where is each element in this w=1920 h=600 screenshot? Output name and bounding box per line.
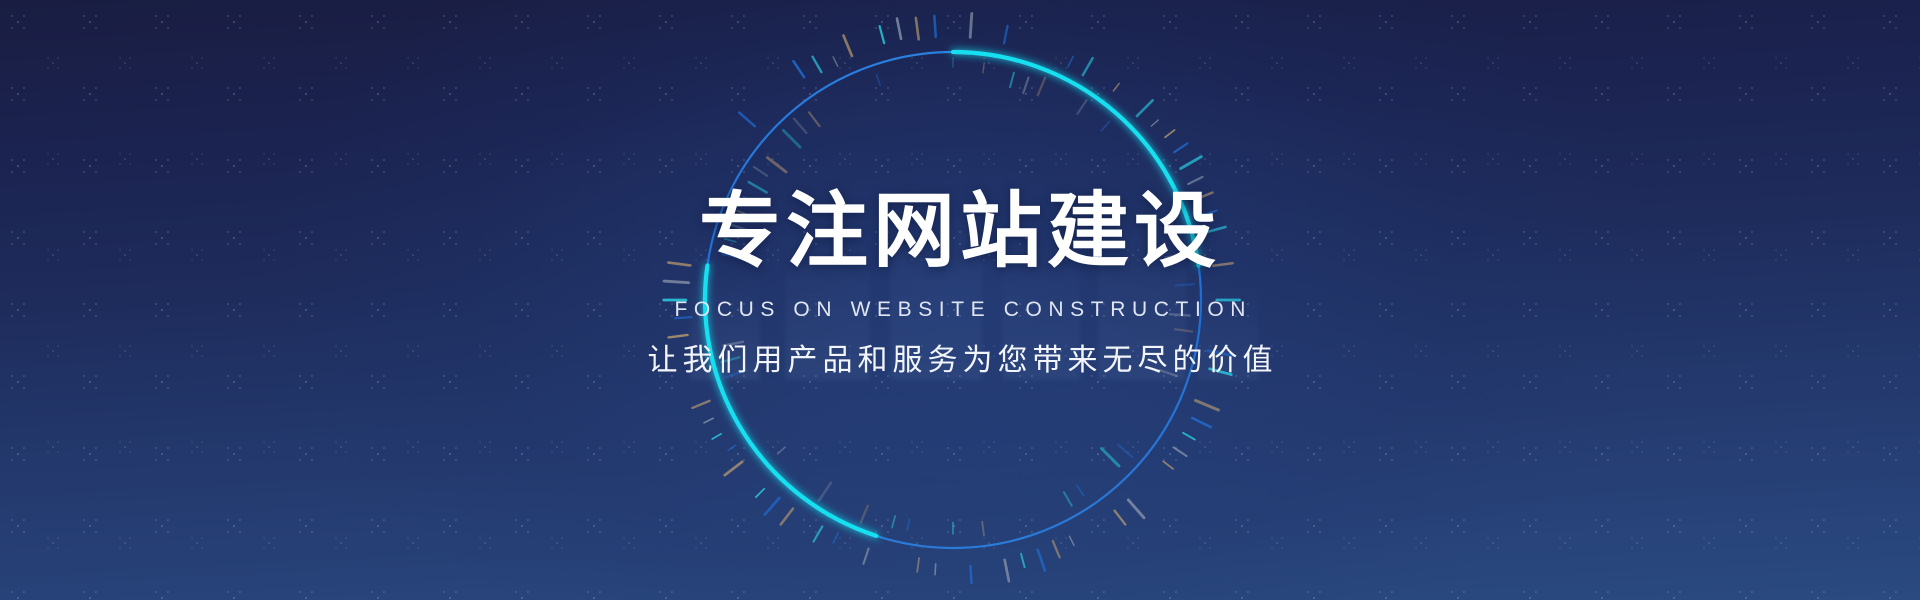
page-title: 专注网站建设 xyxy=(699,191,1221,273)
banner-content: 专注网站建设 FOCUS ON WEBSITE CONSTRUCTION 让我们… xyxy=(0,0,1920,600)
hero-banner: 专注网站建设 FOCUS ON WEBSITE CONSTRUCTION 让我们… xyxy=(0,0,1920,600)
banner-tagline: 让我们用产品和服务为您带来无尽的价值 xyxy=(643,346,1278,376)
banner-subtitle: FOCUS ON WEBSITE CONSTRUCTION xyxy=(668,299,1252,320)
